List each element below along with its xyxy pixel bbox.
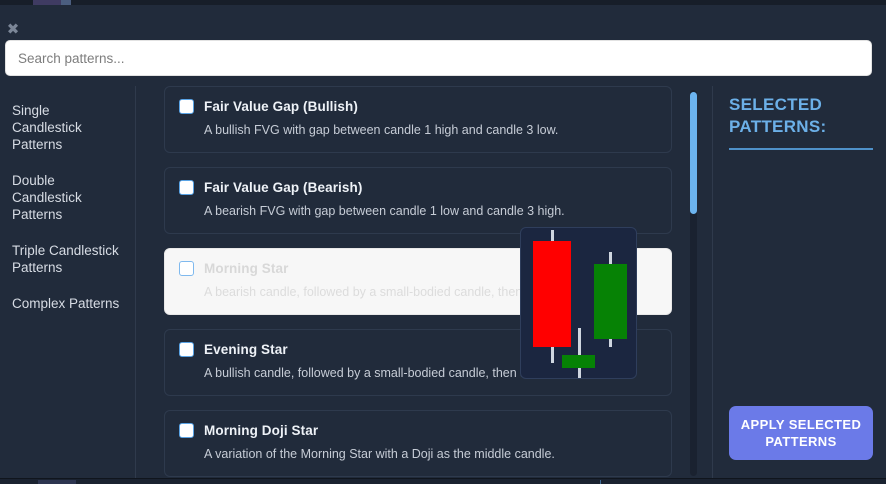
pattern-title: Morning Star [204,261,288,276]
taskbar-nub [38,480,76,484]
sidebar-item-double-candlestick-patterns[interactable]: Double Candlestick Patterns [12,172,123,223]
pattern-list-scrollbar-track[interactable] [690,90,697,476]
sidebar-item-complex-patterns[interactable]: Complex Patterns [12,295,123,312]
pattern-list-scrollbar-thumb[interactable] [690,92,697,214]
pattern-description: A bearish FVG with gap between candle 1 … [204,204,657,219]
category-sidebar: Single Candlestick Patterns Double Candl… [0,86,136,478]
pattern-row-header: Morning Doji Star [179,423,657,438]
pattern-checkbox[interactable] [179,342,194,357]
pattern-checkbox[interactable] [179,180,194,195]
taskbar-nub-right [600,480,601,484]
close-icon[interactable]: ✖ [4,20,22,38]
window-bottom-chrome [0,478,886,484]
pattern-row-fair-value-gap-bearish[interactable]: Fair Value Gap (Bearish) A bearish FVG w… [164,167,672,234]
selected-patterns-divider [729,148,873,150]
candle-3-body [594,264,627,339]
apply-selected-patterns-button[interactable]: APPLY SELECTED PATTERNS [729,406,873,460]
candle-1-body [533,241,571,347]
main-body: Single Candlestick Patterns Double Candl… [0,86,886,478]
window-top-chrome [0,0,886,5]
pattern-row-header: Fair Value Gap (Bearish) [179,180,657,195]
sidebar-item-single-candlestick-patterns[interactable]: Single Candlestick Patterns [12,102,123,153]
pattern-title: Fair Value Gap (Bullish) [204,99,358,114]
candle-2-body [562,355,595,368]
sidebar-item-triple-candlestick-patterns[interactable]: Triple Candlestick Patterns [12,242,123,276]
pattern-title: Evening Star [204,342,288,357]
pattern-checkbox[interactable] [179,423,194,438]
browser-tab-nub-secondary [61,0,71,5]
pattern-title: Fair Value Gap (Bearish) [204,180,362,195]
pattern-description: A bullish FVG with gap between candle 1 … [204,123,657,138]
pattern-row-header: Fair Value Gap (Bullish) [179,99,657,114]
pattern-selector-window: ✖ Single Candlestick Patterns Double Can… [0,0,886,484]
pattern-checkbox[interactable] [179,99,194,114]
pattern-row-fair-value-gap-bullish[interactable]: Fair Value Gap (Bullish) A bullish FVG w… [164,86,672,153]
selected-patterns-panel: SELECTED PATTERNS: APPLY SELECTED PATTER… [712,86,886,478]
pattern-checkbox[interactable] [179,261,194,276]
pattern-row-morning-doji-star[interactable]: Morning Doji Star A variation of the Mor… [164,410,672,477]
candle-2-wick [578,328,581,379]
pattern-title: Morning Doji Star [204,423,318,438]
candlestick-preview-popup [520,227,637,379]
search-input[interactable] [5,40,872,76]
selected-patterns-heading: SELECTED PATTERNS: [729,94,872,138]
pattern-description: A variation of the Morning Star with a D… [204,447,657,462]
browser-tab-nub [33,0,61,5]
